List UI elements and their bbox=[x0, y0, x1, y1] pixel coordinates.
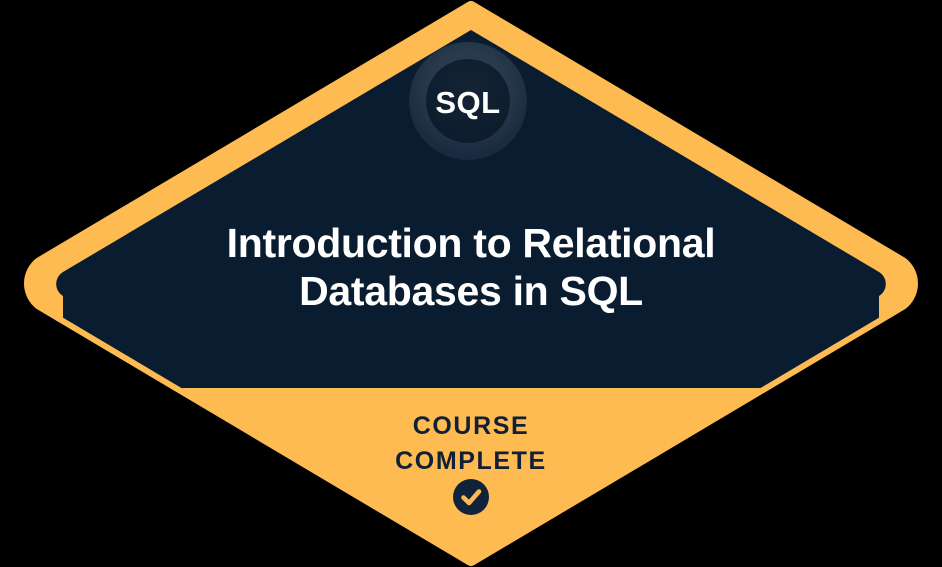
check-circle-graphic bbox=[453, 479, 489, 515]
badge-canvas: SQL Introduction to Relational Databases… bbox=[0, 0, 942, 567]
sql-chip-graphic bbox=[409, 42, 527, 160]
badge-diamond-graphic bbox=[0, 0, 942, 567]
